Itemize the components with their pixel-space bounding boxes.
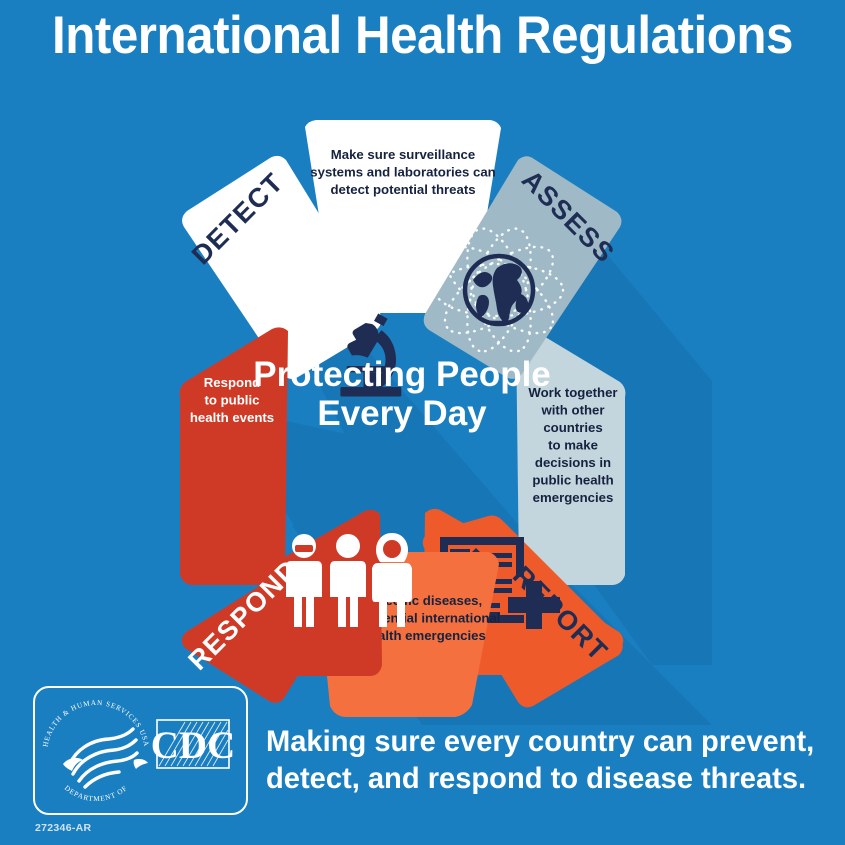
cdc-logo[interactable]: HEALTH & HUMAN SERVICES USA DEPARTMENT O… [33,686,248,815]
infographic-canvas: International Health Regulations [0,0,845,845]
page-title: International Health Regulations [30,8,816,64]
segment-detect-description: Make sure surveillancesystems and labora… [310,147,495,197]
cdc-logo-text: CDC [151,724,236,767]
publication-code: 272346-AR [35,822,91,834]
footer-tagline: Making sure every country can prevent, d… [266,724,824,797]
hhs-seal-icon: HEALTH & HUMAN SERVICES USA DEPARTMENT O… [41,699,150,803]
svg-text:DEPARTMENT OF: DEPARTMENT OF [63,784,129,803]
ihr-cycle-wheel: Make sure surveillancesystems and labora… [92,105,712,725]
cdc-wordmark: CDC [151,720,236,768]
segment-respond-outer[interactable]: Respondto publichealth events [180,327,288,585]
